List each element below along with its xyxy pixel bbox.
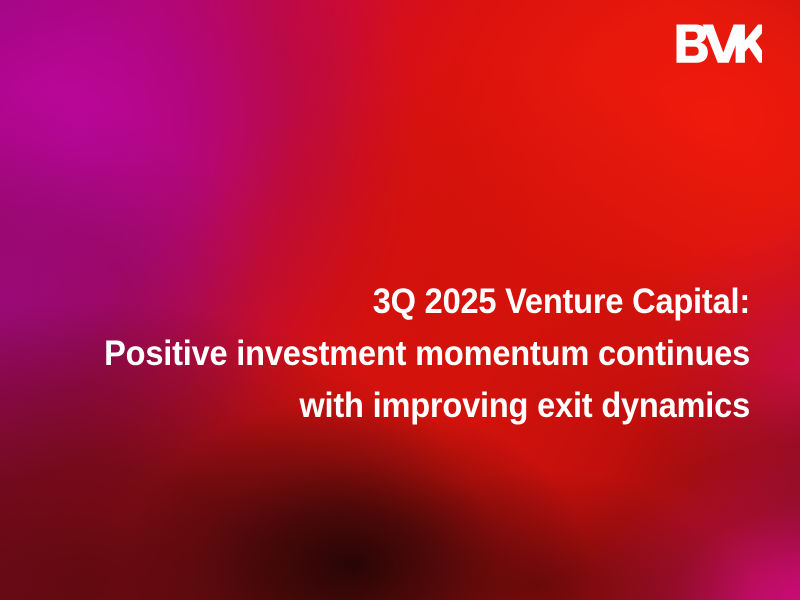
headline-line-2: Positive investment momentum continues (53, 328, 751, 380)
headline-line-3: with improving exit dynamics (53, 380, 751, 432)
slide-canvas: 3Q 2025 Venture Capital: Positive invest… (0, 0, 800, 600)
headline-line-1: 3Q 2025 Venture Capital: (53, 276, 751, 328)
bvk-logo (676, 24, 762, 70)
page-title: 3Q 2025 Venture Capital: Positive invest… (53, 276, 751, 432)
gradient-blob-dark-smear (330, 470, 750, 600)
